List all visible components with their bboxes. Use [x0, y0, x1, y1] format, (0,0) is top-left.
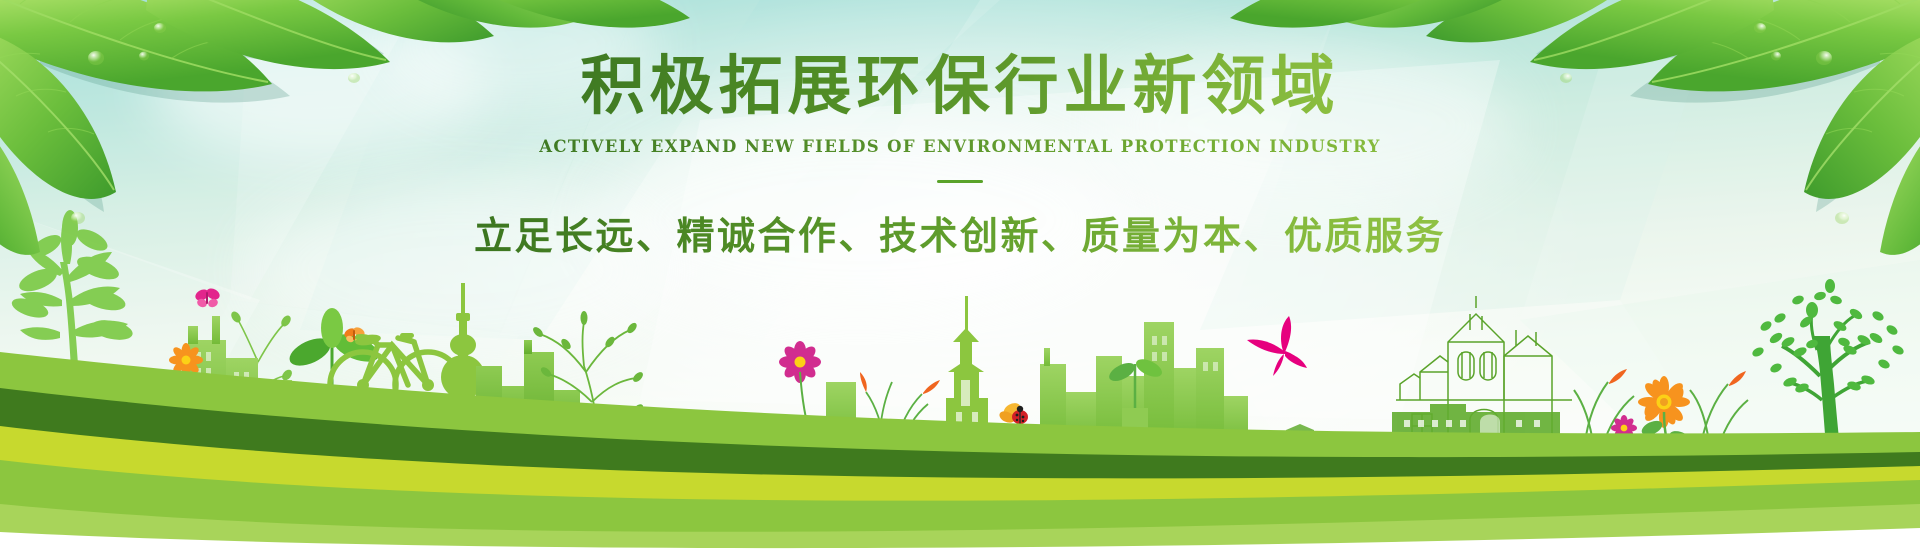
dew-drop-icon [88, 51, 104, 65]
dew-drop-icon [154, 23, 166, 33]
dew-drop-icon [1560, 73, 1572, 83]
dew-drop-icon [1754, 23, 1766, 33]
dew-drop-icon [1771, 52, 1781, 61]
dew-drop-icon [1835, 212, 1849, 224]
dew-drop-icon [71, 212, 85, 224]
dew-drop-icon [348, 73, 360, 83]
dew-drop-icon [139, 52, 149, 61]
dew-drop-icon [1816, 51, 1832, 65]
leaves-layer [0, 0, 1920, 550]
eco-banner: 积极拓展环保行业新领域 ACTIVELY EXPAND NEW FIELDS O… [0, 0, 1920, 550]
leaf-cluster-icon [0, 0, 690, 255]
leaf-cluster-icon [1230, 0, 1920, 255]
